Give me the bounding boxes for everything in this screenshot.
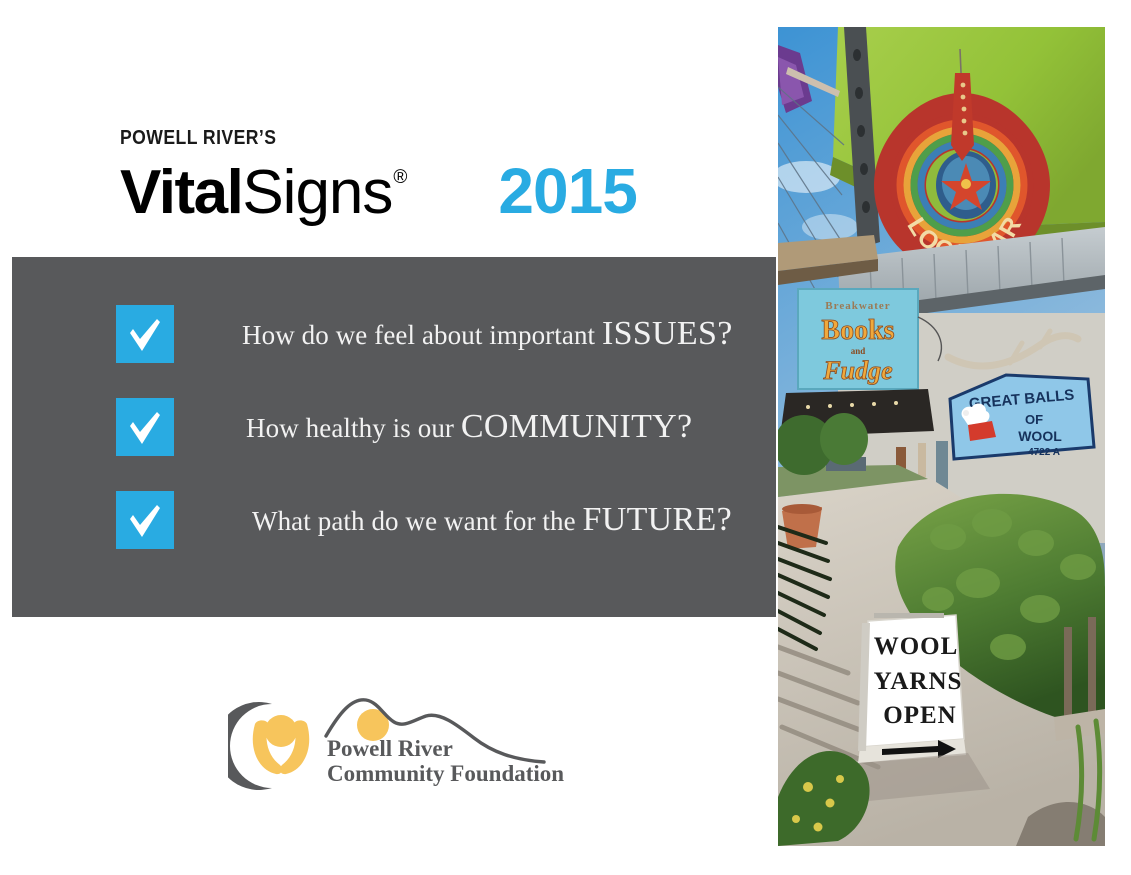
wordmark-signs: Signs bbox=[242, 162, 392, 224]
svg-text:Fudge: Fudge bbox=[822, 356, 892, 385]
svg-text:OPEN: OPEN bbox=[883, 702, 956, 729]
checklist-item-community: How healthy is our COMMUNITY? bbox=[116, 398, 692, 456]
checklist-item-text: How healthy is our COMMUNITY? bbox=[246, 410, 692, 444]
checklist-item-text: How do we feel about important ISSUES? bbox=[242, 317, 733, 351]
kicker-text: POWELL RIVER’S bbox=[120, 128, 683, 148]
checkmark-icon bbox=[116, 491, 174, 549]
checklist-lead-text: How do we feel about important bbox=[242, 320, 602, 350]
checklist-emphasis-text: FUTURE? bbox=[583, 501, 732, 538]
checklist-item-text: What path do we want for the FUTURE? bbox=[252, 503, 732, 537]
registered-trademark-icon: ® bbox=[393, 167, 407, 189]
wool-yarns-open-sign: WOOL YARNS OPEN bbox=[858, 613, 966, 763]
svg-text:Books: Books bbox=[821, 315, 894, 346]
svg-text:WOOL: WOOL bbox=[1018, 428, 1062, 444]
svg-text:Breakwater: Breakwater bbox=[825, 300, 890, 312]
foundation-logo: Powell River Community Foundation bbox=[228, 690, 573, 802]
checklist-lead-text: How healthy is our bbox=[246, 413, 461, 443]
foundation-name-line1: Powell River bbox=[327, 736, 453, 761]
svg-text:and: and bbox=[851, 346, 866, 356]
masthead: POWELL RIVER’S VitalSigns® 2015 bbox=[120, 128, 760, 224]
year-label: 2015 bbox=[498, 159, 636, 223]
checkmark-icon bbox=[116, 398, 174, 456]
checkmark-icon bbox=[116, 305, 174, 363]
checklist-lead-text: What path do we want for the bbox=[252, 506, 583, 536]
left-content-column: POWELL RIVER’S VitalSigns® 2015 How do w… bbox=[0, 0, 778, 875]
checklist-emphasis-text: COMMUNITY? bbox=[461, 408, 693, 445]
svg-text:YARNS: YARNS bbox=[874, 668, 963, 695]
checklist-item-issues: How do we feel about important ISSUES? bbox=[116, 305, 733, 363]
street-scene-photo: LOCAL·ART Breakwater Books and Fudge bbox=[778, 27, 1105, 846]
svg-text:4722 A: 4722 A bbox=[1028, 447, 1060, 458]
checklist-panel: How do we feel about important ISSUES? H… bbox=[12, 257, 776, 617]
svg-text:OF: OF bbox=[1025, 412, 1043, 427]
checklist-item-future: What path do we want for the FUTURE? bbox=[116, 491, 732, 549]
wordmark-row: VitalSigns® 2015 bbox=[120, 159, 760, 224]
checklist-emphasis-text: ISSUES? bbox=[602, 315, 733, 352]
books-and-fudge-sign: Breakwater Books and Fudge bbox=[798, 289, 918, 389]
svg-text:WOOL: WOOL bbox=[874, 633, 959, 660]
foundation-name-line2: Community Foundation bbox=[327, 761, 564, 786]
wordmark-vital: Vital bbox=[120, 162, 242, 224]
